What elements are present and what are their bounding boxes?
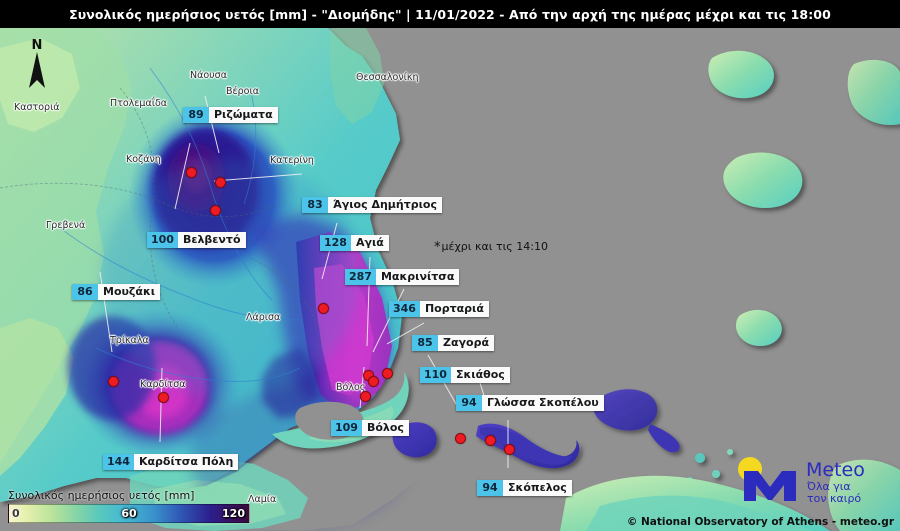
station-marker-dot[interactable] bbox=[368, 376, 379, 387]
station-marker-dot[interactable] bbox=[504, 444, 515, 455]
station-value: 83 bbox=[302, 197, 328, 213]
station-value: 346 bbox=[389, 301, 420, 317]
legend-title: Συνολικός ημερήσιος υετός [mm] bbox=[8, 489, 248, 502]
station-marker-dot[interactable] bbox=[455, 433, 466, 444]
station-name: Αγιά bbox=[351, 235, 389, 251]
station-marker-dot[interactable] bbox=[318, 303, 329, 314]
legend-tick-min: 0 bbox=[12, 505, 20, 522]
station-name: Βόλος bbox=[362, 420, 409, 436]
station-marker-dot[interactable] bbox=[108, 376, 119, 387]
station-marker-dot[interactable] bbox=[485, 435, 496, 446]
station-callout[interactable]: 94Σκόπελος bbox=[477, 480, 572, 496]
legend: Συνολικός ημερήσιος υετός [mm] 0 60 120 bbox=[8, 489, 248, 523]
station-name: Βελβεντό bbox=[178, 232, 246, 248]
station-value: 85 bbox=[412, 335, 438, 351]
station-name: Άγιος Δημήτριος bbox=[328, 197, 442, 213]
station-marker-dot[interactable] bbox=[215, 177, 226, 188]
station-value: 144 bbox=[103, 454, 134, 470]
logo-tagline-2: τον καιρό bbox=[807, 493, 861, 505]
station-callout[interactable]: 128Αγιά bbox=[320, 235, 389, 251]
footnote: *μέχρι και τις 14:10 bbox=[434, 240, 548, 255]
station-value: 86 bbox=[72, 284, 98, 300]
station-callout[interactable]: 94Γλώσσα Σκοπέλου bbox=[456, 395, 604, 411]
station-marker-dot[interactable] bbox=[186, 167, 197, 178]
station-callout[interactable]: 109Βόλος bbox=[331, 420, 409, 436]
station-callout[interactable]: 86Μουζάκι bbox=[72, 284, 160, 300]
station-callout[interactable]: 100Βελβεντό bbox=[147, 232, 246, 248]
logo-m-icon bbox=[744, 471, 796, 501]
station-value: 94 bbox=[456, 395, 482, 411]
station-marker-dot[interactable] bbox=[158, 392, 169, 403]
station-callout[interactable]: 287Μακρινίτσα bbox=[345, 269, 459, 285]
station-value: 110 bbox=[420, 367, 451, 383]
legend-tick-mid: 60 bbox=[121, 505, 136, 522]
station-callout[interactable]: 346Πορταριά bbox=[389, 301, 489, 317]
station-name: Γλώσσα Σκοπέλου bbox=[482, 395, 604, 411]
legend-tick-max: 120 bbox=[222, 505, 245, 522]
station-marker-dot[interactable] bbox=[210, 205, 221, 216]
station-name: Μακρινίτσα bbox=[376, 269, 459, 285]
station-name: Ζαγορά bbox=[438, 335, 494, 351]
station-callout[interactable]: 144Καρδίτσα Πόλη bbox=[103, 454, 238, 470]
station-name: Ριζώματα bbox=[209, 107, 278, 123]
station-value: 89 bbox=[183, 107, 209, 123]
precipitation-map[interactable]: N ΚαστοριάΠτολεμαΐδαΝάουσαΒέροιαΘεσσαλον… bbox=[0, 28, 900, 531]
station-callout[interactable]: 83Άγιος Δημήτριος bbox=[302, 197, 442, 213]
station-value: 128 bbox=[320, 235, 351, 251]
page-title: Συνολικός ημερήσιος υετός [mm] - "Διομήδ… bbox=[0, 0, 900, 28]
meteo-logo[interactable]: Meteo Όλα για τον καιρό bbox=[720, 455, 888, 507]
station-name: Καρδίτσα Πόλη bbox=[134, 454, 238, 470]
screenshot-root: Συνολικός ημερήσιος υετός [mm] - "Διομήδ… bbox=[0, 0, 900, 531]
station-callout[interactable]: 89Ριζώματα bbox=[183, 107, 278, 123]
station-value: 287 bbox=[345, 269, 376, 285]
station-marker-dot[interactable] bbox=[382, 368, 393, 379]
logo-wordmark: Meteo bbox=[806, 459, 865, 481]
station-marker-dot[interactable] bbox=[360, 391, 371, 402]
station-callout[interactable]: 110Σκιάθος bbox=[420, 367, 510, 383]
station-value: 109 bbox=[331, 420, 362, 436]
footnote-asterisk: * bbox=[434, 240, 441, 255]
station-name: Μουζάκι bbox=[98, 284, 160, 300]
station-name: Σκιάθος bbox=[451, 367, 510, 383]
legend-colorbar: 0 60 120 bbox=[8, 504, 250, 523]
station-name: Πορταριά bbox=[420, 301, 489, 317]
footnote-text: μέχρι και τις 14:10 bbox=[442, 240, 548, 253]
copyright-notice: © National Observatory of Athens - meteo… bbox=[627, 516, 894, 528]
station-callout[interactable]: 85Ζαγορά bbox=[412, 335, 494, 351]
station-name: Σκόπελος bbox=[503, 480, 572, 496]
station-value: 100 bbox=[147, 232, 178, 248]
station-value: 94 bbox=[477, 480, 503, 496]
